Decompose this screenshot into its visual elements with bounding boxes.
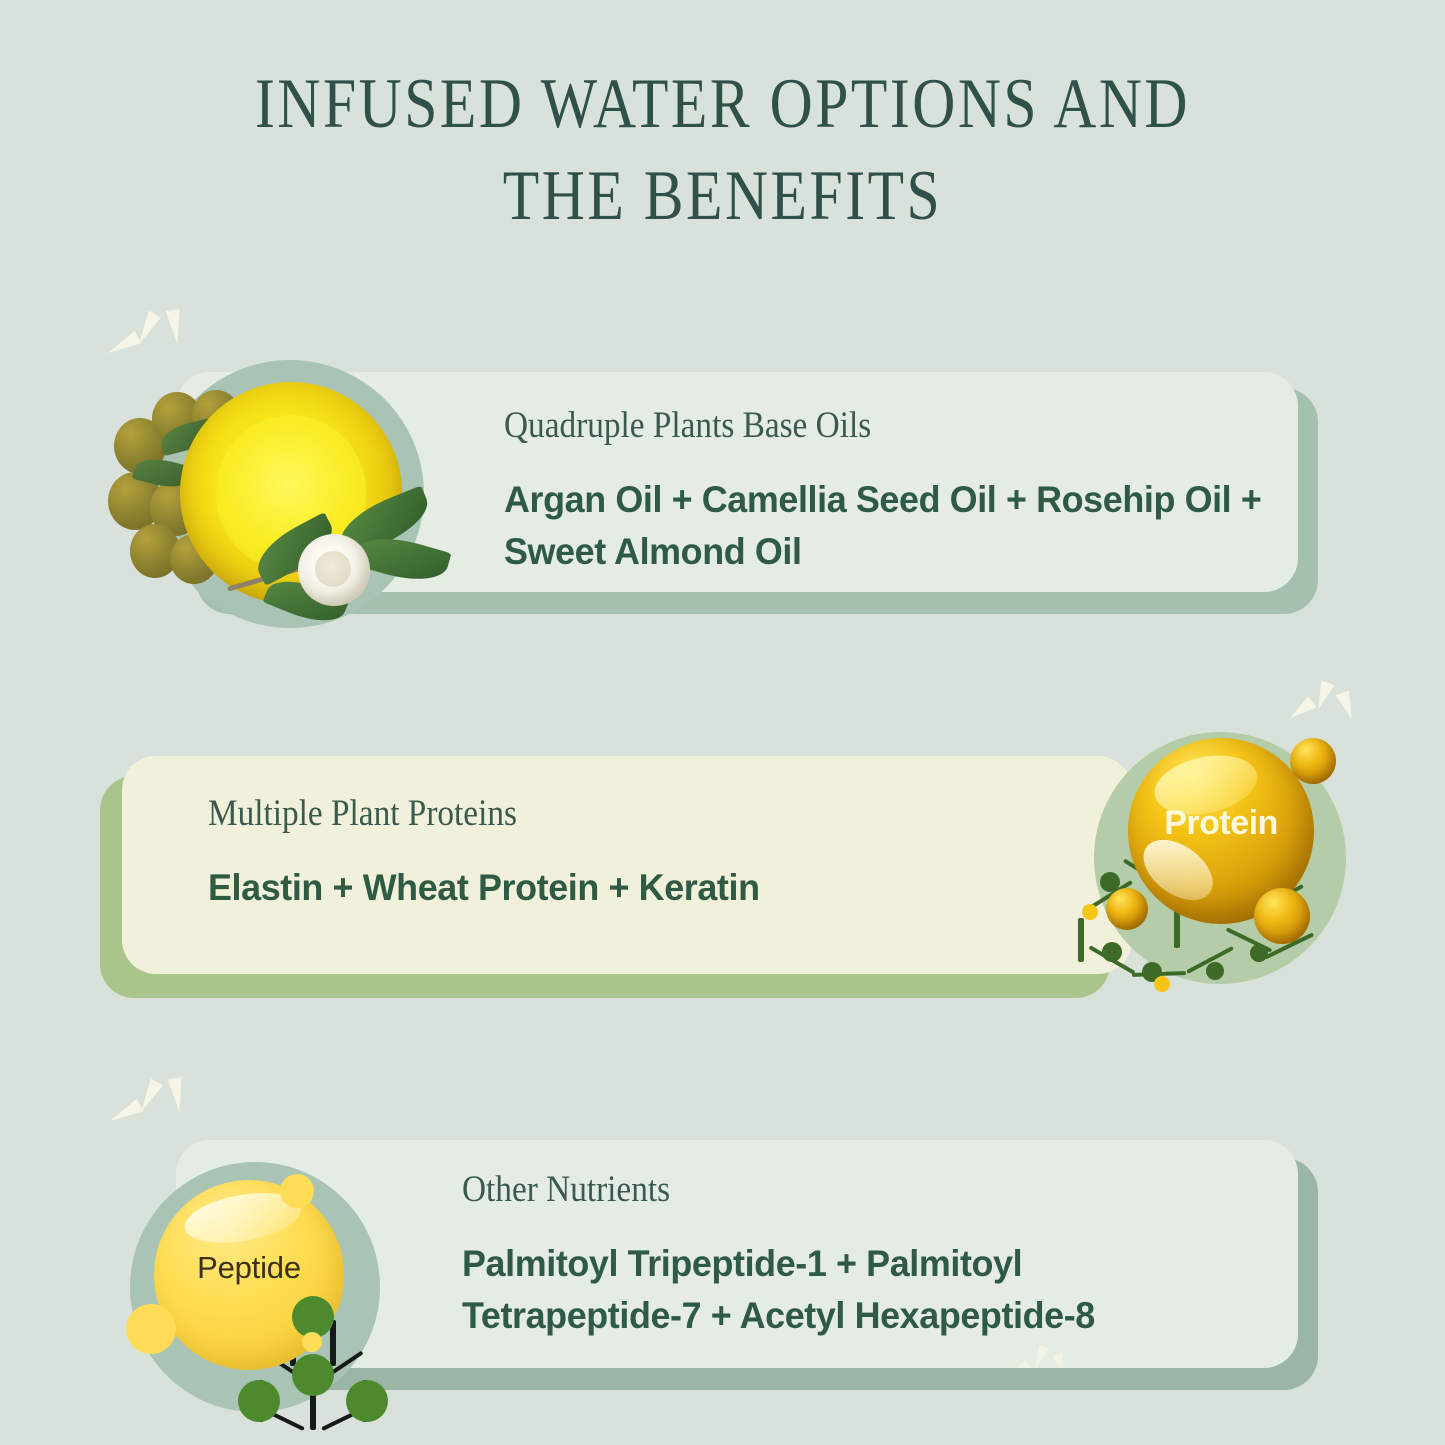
protein-label: Protein bbox=[1128, 804, 1314, 843]
protein-illustration: Protein bbox=[1058, 676, 1398, 1006]
camellia-flower-icon bbox=[298, 534, 370, 606]
card-heading: Other Nutrients bbox=[462, 1168, 1182, 1212]
peptide-dot-icon bbox=[280, 1174, 314, 1208]
molecule-node bbox=[238, 1380, 280, 1422]
card-text-group: Other Nutrients Palmitoyl Tripeptide-1 +… bbox=[462, 1168, 1262, 1342]
protein-mini-droplet-icon bbox=[1106, 888, 1148, 930]
card-heading: Quadruple Plants Base Oils bbox=[504, 404, 1224, 448]
protein-mini-droplet-icon bbox=[1254, 888, 1310, 944]
olive-oil-illustration bbox=[108, 352, 508, 652]
molecule-node bbox=[346, 1380, 388, 1422]
molecule-node bbox=[1206, 962, 1224, 980]
card-heading: Multiple Plant Proteins bbox=[208, 792, 982, 836]
molecule-node bbox=[1100, 872, 1120, 892]
page-title: INFUSED WATER OPTIONS AND THE BENEFITS bbox=[116, 58, 1330, 242]
card-body-text: Argan Oil + Camellia Seed Oil + Rosehip … bbox=[504, 474, 1280, 578]
molecule-node bbox=[1102, 942, 1122, 962]
molecule-node-accent bbox=[1154, 976, 1170, 992]
peptide-dot-icon bbox=[302, 1332, 322, 1352]
card-body-text: Elastin + Wheat Protein + Keratin bbox=[208, 862, 1042, 914]
card-body-text: Palmitoyl Tripeptide-1 + Palmitoyl Tetra… bbox=[462, 1238, 1238, 1342]
card-text-group: Multiple Plant Proteins Elastin + Wheat … bbox=[208, 792, 1068, 914]
peptide-label: Peptide bbox=[154, 1250, 344, 1286]
peptide-illustration: Peptide bbox=[112, 1118, 442, 1438]
molecule-bond bbox=[1078, 918, 1084, 962]
molecule-node-accent bbox=[1082, 904, 1098, 920]
molecule-node bbox=[292, 1354, 334, 1396]
protein-mini-droplet-icon bbox=[1290, 738, 1336, 784]
peptide-dot-icon bbox=[126, 1304, 176, 1354]
card-text-group: Quadruple Plants Base Oils Argan Oil + C… bbox=[504, 404, 1304, 578]
molecule-node bbox=[1250, 944, 1268, 962]
